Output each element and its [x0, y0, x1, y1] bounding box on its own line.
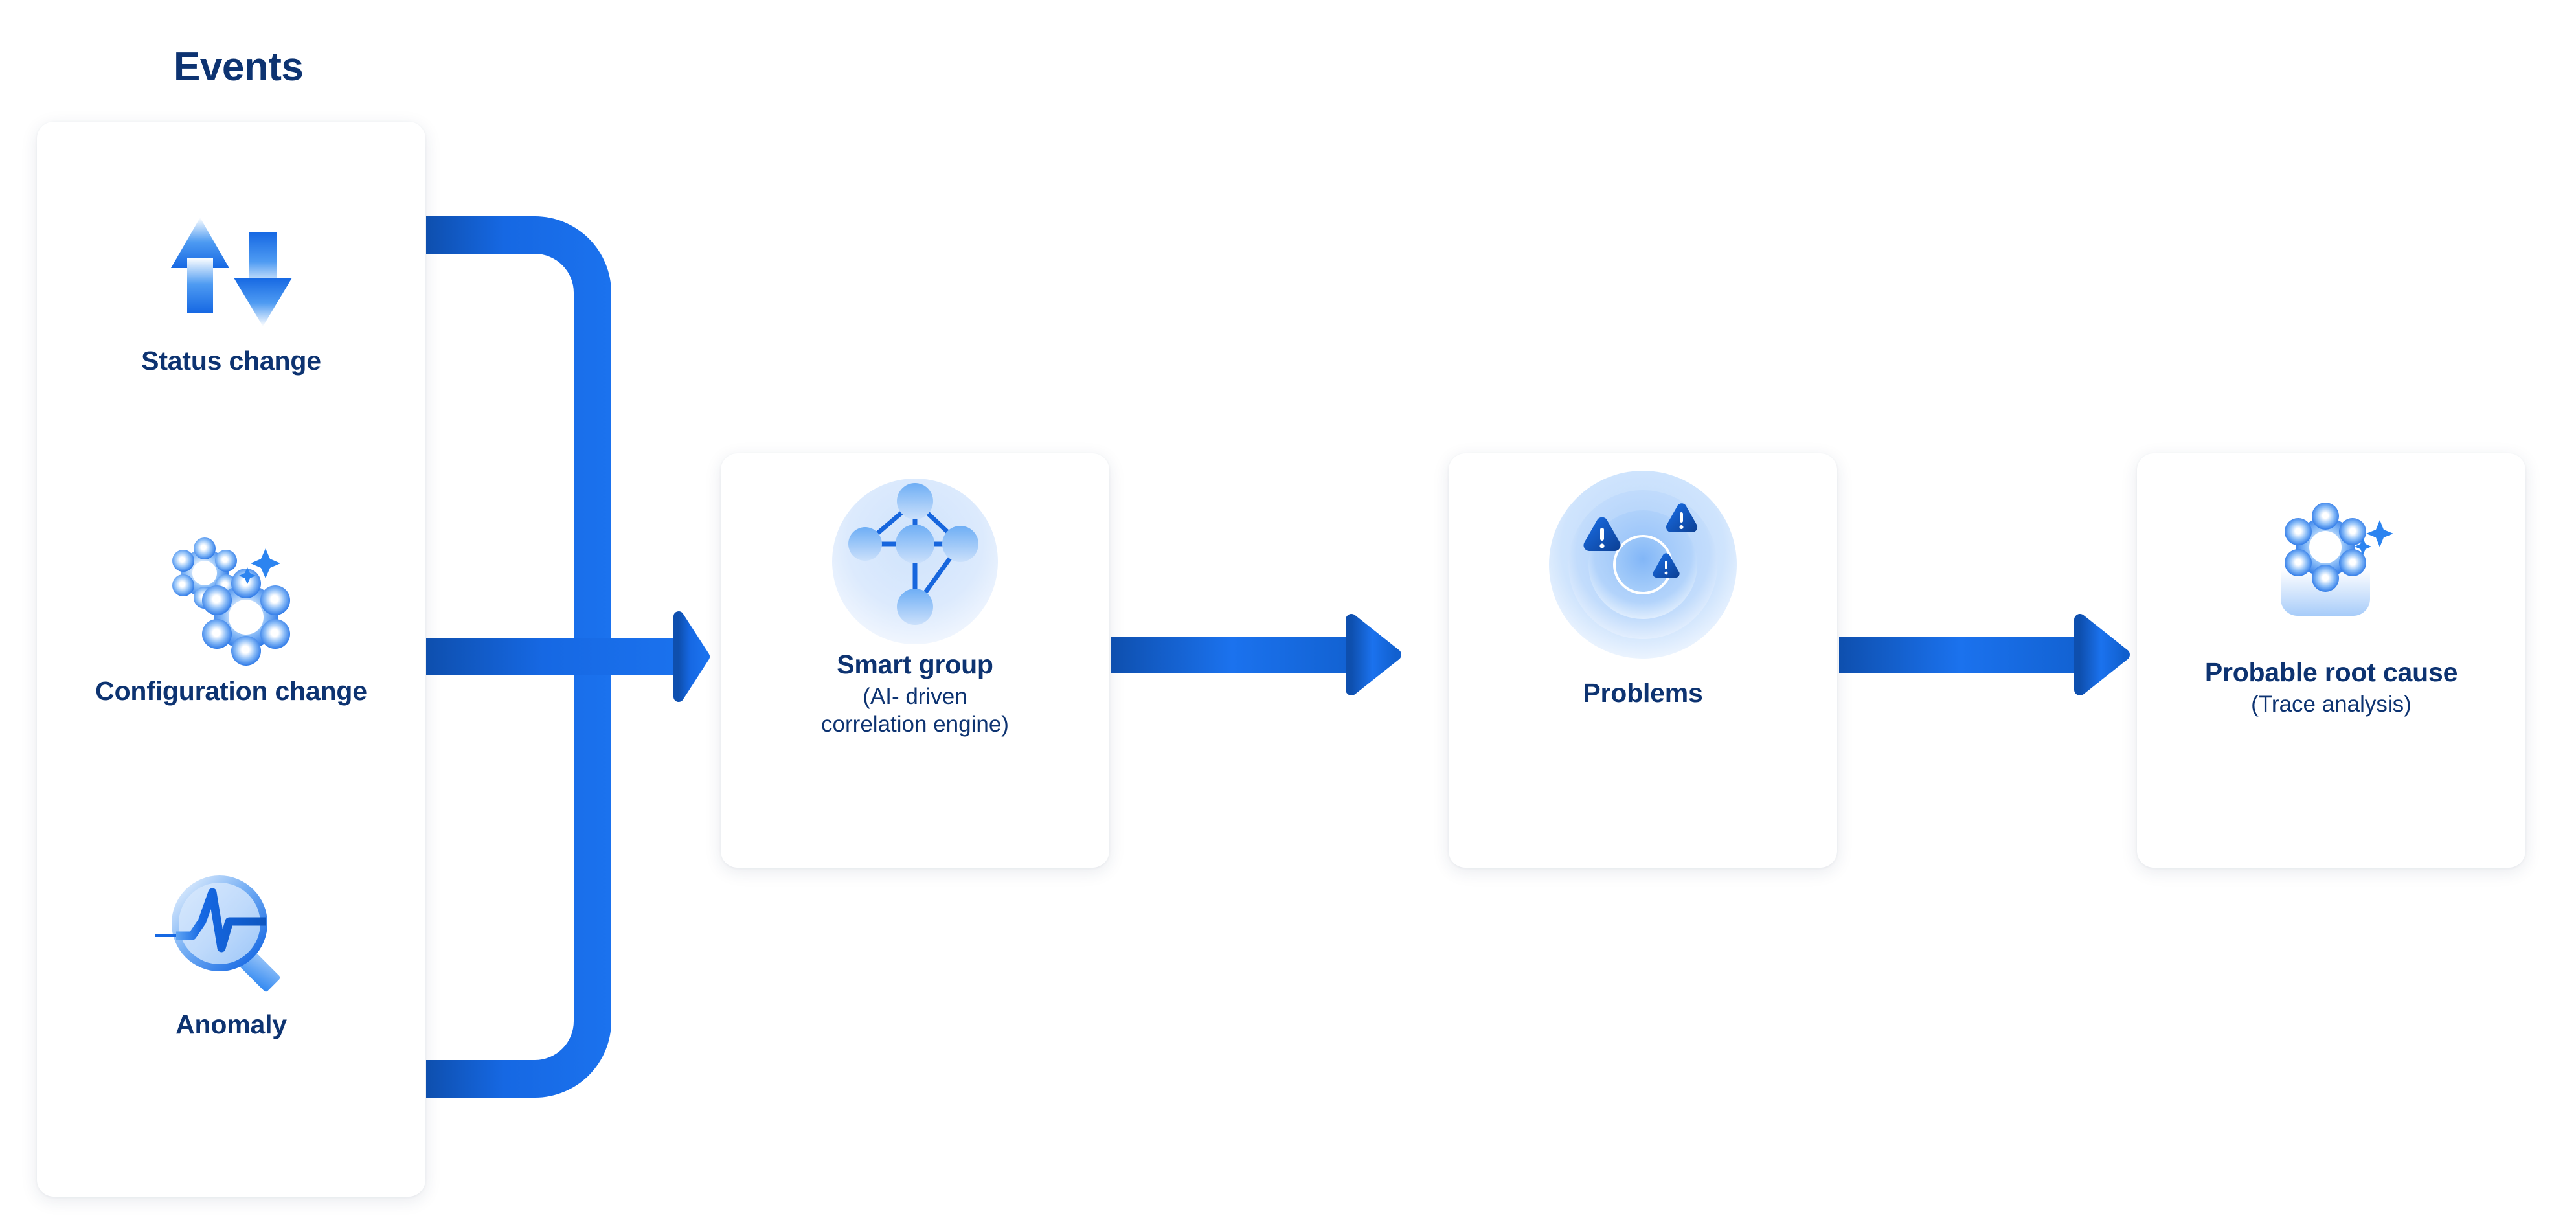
smart-group-subtitle: (AI- driven correlation engine): [821, 683, 1009, 738]
smart-group-card: Smart group (AI- driven correlation engi…: [721, 453, 1109, 868]
probable-root-cause-card: Probable root cause (Trace analysis): [2137, 453, 2525, 868]
event-item-anomaly: Anomaly: [37, 863, 425, 1040]
smart-group-title: Smart group: [837, 649, 993, 681]
magnifier-pulse-icon: [37, 863, 425, 1009]
gear-sparkle-cloud-icon: [2250, 482, 2412, 644]
smart-group-subtitle-line2: correlation engine): [821, 711, 1009, 739]
connector-smart-group-to-problems: [1111, 605, 1408, 703]
problems-title: Problems: [1583, 677, 1702, 709]
problems-card: Problems: [1449, 453, 1837, 868]
probable-root-cause-title: Probable root cause: [2205, 657, 2457, 688]
connector-problems-to-root-cause: [1839, 605, 2137, 703]
event-label-anomaly: Anomaly: [37, 1009, 425, 1040]
problems-content: Problems: [1449, 453, 1837, 868]
event-item-status-change: Status change: [37, 199, 425, 376]
status-change-arrows-icon: [37, 199, 425, 345]
radar-warning-icon: [1546, 468, 1740, 662]
event-label-status-change: Status change: [37, 345, 425, 376]
diagram-canvas: Events: [0, 0, 2576, 1231]
gears-sparkle-icon: [37, 530, 425, 675]
smart-group-subtitle-line1: (AI- driven: [821, 683, 1009, 711]
network-graph-icon: [828, 474, 1002, 649]
connector-events-to-smart-group: [414, 230, 706, 1104]
probable-root-cause-content: Probable root cause (Trace analysis): [2137, 453, 2525, 868]
event-item-configuration-change: Configuration change: [37, 530, 425, 706]
smart-group-content: Smart group (AI- driven correlation engi…: [721, 453, 1109, 868]
events-card: Status change: [37, 122, 425, 1197]
probable-root-cause-subtitle: (Trace analysis): [2251, 691, 2412, 719]
page-title: Events: [174, 44, 303, 90]
event-label-configuration-change: Configuration change: [37, 675, 425, 706]
